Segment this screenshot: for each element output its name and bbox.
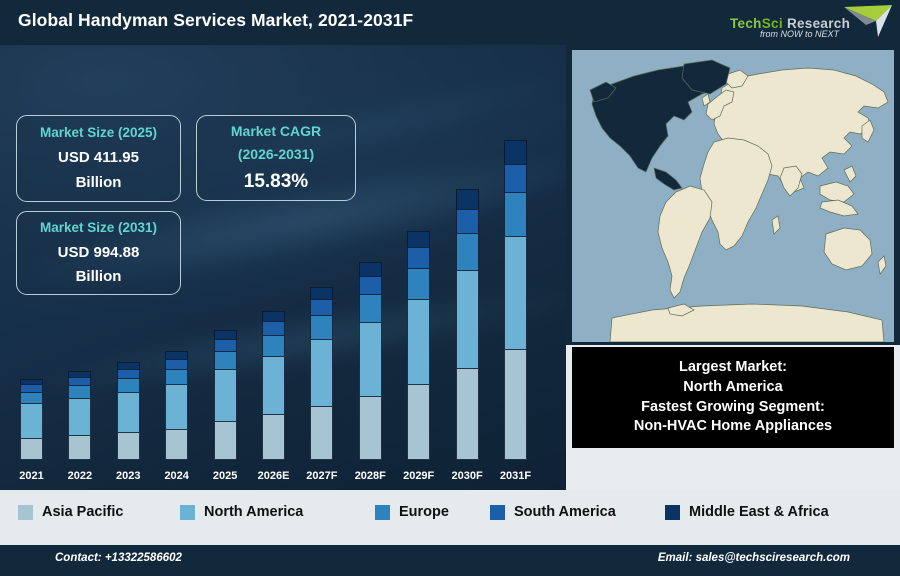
legend-swatch-icon (665, 505, 680, 520)
bar-segment-asia-pacific (262, 414, 285, 460)
bar-segment-europe (165, 369, 188, 385)
map-region-new-zealand (878, 256, 886, 274)
bar-2031F (504, 141, 527, 460)
fastest-segment-label: Fastest Growing Segment: (572, 398, 894, 418)
bar-2027F (310, 288, 333, 460)
bar-segment-europe (214, 351, 237, 371)
map-region-madagascar (772, 216, 780, 234)
map-region-africa (700, 138, 772, 250)
header-bar: Global Handyman Services Market, 2021-20… (0, 0, 900, 45)
bar-2028F (359, 263, 382, 460)
bar-segment-south-america (310, 299, 333, 316)
legend-label: North America (204, 504, 303, 520)
bar-segment-europe (407, 268, 430, 301)
infographic-root: Global Handyman Services Market, 2021-20… (0, 0, 900, 576)
bar-segment-middle-east-africa (310, 287, 333, 300)
contact-email: Email: sales@techsciresearch.com (658, 552, 850, 564)
legend-item-asia-pacific[interactable]: Asia Pacific (18, 504, 123, 520)
legend-label: Asia Pacific (42, 504, 123, 520)
bar-segment-north-america (504, 236, 527, 351)
bar-segment-middle-east-africa (359, 262, 382, 277)
bar-segment-south-america (504, 164, 527, 193)
chart-legend: Asia PacificNorth AmericaEuropeSouth Ame… (0, 490, 900, 545)
bar-segment-europe (359, 294, 382, 323)
legend-swatch-icon (18, 505, 33, 520)
chart-panel: Market Size (2025) USD 411.95 Billion Ma… (0, 45, 566, 490)
legend-item-middle-east-africa[interactable]: Middle East & Africa (665, 504, 829, 520)
legend-label: Europe (399, 504, 449, 520)
bar-segment-europe (117, 378, 140, 393)
map-region-indonesia (820, 200, 858, 216)
largest-market-label: Largest Market: (572, 358, 894, 378)
largest-market-value: North America (572, 378, 894, 398)
bar-2021 (20, 380, 43, 460)
footer-bar: Contact: +13322586602 Email: sales@techs… (0, 545, 900, 576)
stacked-bar-chart (0, 45, 566, 490)
bar-2026E (262, 312, 285, 460)
bar-segment-north-america (20, 403, 43, 439)
bar-segment-asia-pacific (456, 368, 479, 460)
bar-segment-europe (310, 315, 333, 340)
legend-item-europe[interactable]: Europe (375, 504, 449, 520)
legend-item-south-america[interactable]: South America (490, 504, 616, 520)
legend-swatch-icon (180, 505, 195, 520)
map-region-india (780, 166, 802, 196)
bar-segment-north-america (407, 299, 430, 385)
legend-swatch-icon (490, 505, 505, 520)
bar-segment-asia-pacific (165, 429, 188, 460)
legend-item-north-america[interactable]: North America (180, 504, 303, 520)
bar-segment-south-america (407, 247, 430, 268)
bar-2024 (165, 352, 188, 460)
bar-segment-north-america (117, 392, 140, 434)
logo-tagline: from NOW to NEXT (760, 29, 839, 39)
bar-segment-europe (68, 385, 91, 398)
bar-2022 (68, 372, 91, 460)
world-map-icon (572, 50, 894, 342)
map-region-australia (824, 228, 872, 270)
legend-swatch-icon (375, 505, 390, 520)
bar-segment-north-america (165, 384, 188, 430)
bar-segment-asia-pacific (117, 432, 140, 460)
logo-text-tech: Tech (730, 16, 762, 31)
bar-segment-north-america (214, 369, 237, 422)
map-region-central-america (654, 168, 682, 190)
bar-segment-south-america (359, 276, 382, 295)
x-axis-labels: 202120222023202420252026E2027F2028F2029F… (0, 462, 566, 482)
legend-label: Middle East & Africa (689, 504, 829, 520)
contact-phone: Contact: +13322586602 (55, 552, 182, 564)
map-region-antarctica (610, 304, 884, 342)
bar-segment-middle-east-africa (407, 231, 430, 248)
legend-label: South America (514, 504, 616, 520)
bar-segment-north-america (456, 270, 479, 369)
bar-segment-asia-pacific (20, 438, 43, 460)
bar-segment-europe (456, 233, 479, 271)
bar-2025 (214, 331, 237, 460)
bar-2029F (407, 232, 430, 460)
bar-segment-asia-pacific (310, 406, 333, 460)
bar-segment-north-america (359, 322, 382, 398)
bar-segment-asia-pacific (504, 349, 527, 460)
bar-segment-north-america (310, 339, 333, 407)
bar-segment-asia-pacific (359, 396, 382, 460)
fastest-segment-value: Non-HVAC Home Appliances (572, 417, 894, 437)
techsci-research-logo: TechSci Research from NOW to NEXT (726, 3, 894, 43)
bar-segment-europe (504, 192, 527, 236)
bar-segment-middle-east-africa (504, 140, 527, 165)
bar-2030F (456, 190, 479, 460)
bar-segment-asia-pacific (68, 435, 91, 460)
map-region-philippines (844, 166, 856, 182)
bar-segment-south-america (456, 209, 479, 234)
bar-segment-north-america (68, 398, 91, 436)
bar-2023 (117, 363, 140, 460)
bar-segment-south-america (262, 321, 285, 336)
map-region-southeast-asia (820, 182, 854, 202)
page-title: Global Handyman Services Market, 2021-20… (18, 10, 413, 31)
bar-segment-asia-pacific (214, 421, 237, 460)
world-map-panel (566, 45, 900, 345)
x-axis-label-2031F: 2031F (488, 470, 544, 482)
bar-segment-middle-east-africa (456, 189, 479, 210)
world-map (572, 50, 894, 342)
bar-segment-europe (262, 335, 285, 357)
bar-segment-north-america (262, 356, 285, 415)
map-region-south-america (658, 186, 712, 298)
bar-segment-asia-pacific (407, 384, 430, 460)
key-facts-box: Largest Market: North America Fastest Gr… (572, 347, 894, 448)
